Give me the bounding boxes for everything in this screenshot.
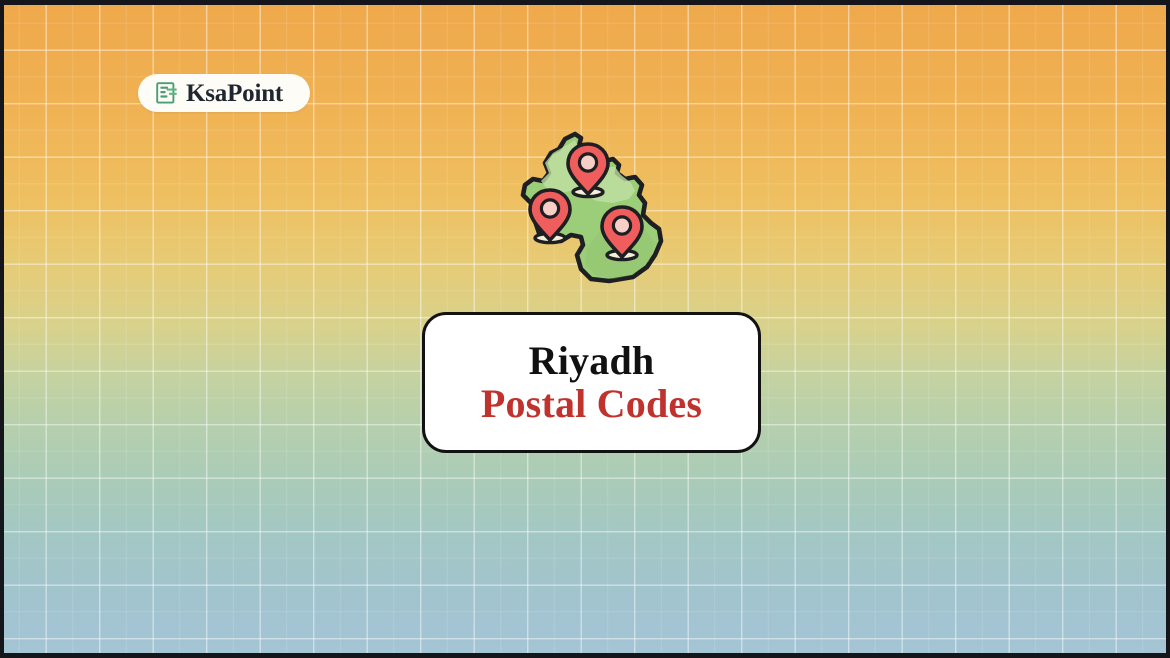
brand-logo-pill[interactable]: KsaPoint — [138, 74, 310, 112]
map-pin-north — [568, 144, 608, 197]
page-title-primary: Riyadh — [529, 340, 655, 382]
map-pin-west — [530, 190, 570, 243]
page-title-secondary: Postal Codes — [481, 383, 702, 425]
document-list-icon — [155, 81, 179, 105]
title-card: Riyadh Postal Codes — [422, 312, 761, 453]
brand-name: KsaPoint — [186, 81, 283, 106]
region-map-illustration — [509, 129, 677, 287]
poster-canvas: KsaPoint — [0, 0, 1170, 658]
map-pin-south — [602, 207, 642, 260]
